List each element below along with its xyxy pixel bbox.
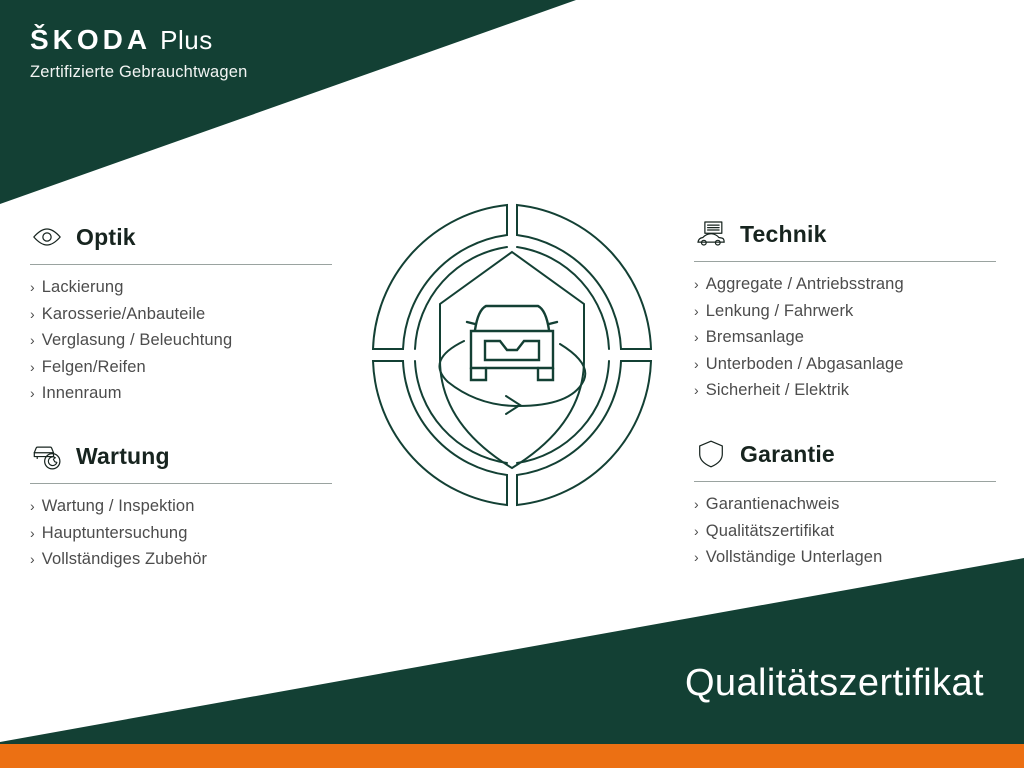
chevron-right-icon: › xyxy=(30,306,35,322)
list-item: ›Lackierung xyxy=(30,279,335,296)
chevron-right-icon: › xyxy=(30,359,35,375)
list-item: ›Garantienachweis xyxy=(694,496,999,513)
chevron-right-icon: › xyxy=(694,382,699,398)
list-item-label: Lackierung xyxy=(42,279,124,296)
section-wartung-divider xyxy=(30,483,332,484)
section-garantie-title: Garantie xyxy=(740,443,835,466)
list-item-label: Felgen/Reifen xyxy=(42,359,146,376)
list-item: ›Verglasung / Beleuchtung xyxy=(30,332,335,349)
list-item-label: Sicherheit / Elektrik xyxy=(706,382,849,399)
section-technik: Technik ›Aggregate / Antriebsstrang ›Len… xyxy=(694,215,999,409)
bottom-orange-bar xyxy=(0,744,1024,768)
list-item-label: Lenkung / Fahrwerk xyxy=(706,303,854,320)
section-technik-title: Technik xyxy=(740,223,827,246)
section-optik-title: Optik xyxy=(76,226,136,249)
list-item: ›Unterboden / Abgasanlage xyxy=(694,356,999,373)
section-garantie-list: ›Garantienachweis ›Qualitätszertifikat ›… xyxy=(694,496,999,566)
section-wartung-header: Wartung xyxy=(30,437,335,475)
section-optik-header: Optik xyxy=(30,218,335,256)
chevron-right-icon: › xyxy=(30,385,35,401)
car-document-icon xyxy=(694,217,728,251)
section-wartung-title: Wartung xyxy=(76,445,170,468)
list-item-label: Verglasung / Beleuchtung xyxy=(42,332,232,349)
chevron-right-icon: › xyxy=(694,496,699,512)
chevron-right-icon: › xyxy=(694,523,699,539)
car-wrench-icon xyxy=(30,439,64,473)
chevron-right-icon: › xyxy=(30,525,35,541)
footer-title: Qualitätszertifikat xyxy=(685,664,984,702)
section-technik-list: ›Aggregate / Antriebsstrang ›Lenkung / F… xyxy=(694,276,999,399)
list-item: ›Felgen/Reifen xyxy=(30,359,335,376)
section-garantie-header: Garantie xyxy=(694,435,999,473)
chevron-right-icon: › xyxy=(694,329,699,345)
emblem-car-front xyxy=(467,306,557,380)
list-item-label: Wartung / Inspektion xyxy=(42,498,195,515)
list-item: ›Wartung / Inspektion xyxy=(30,498,335,515)
list-item-label: Vollständiges Zubehör xyxy=(42,551,207,568)
brand-block: ŠKODA Plus Zertifizierte Gebrauchtwagen xyxy=(30,26,247,82)
chevron-right-icon: › xyxy=(694,276,699,292)
section-technik-divider xyxy=(694,261,996,262)
section-wartung: Wartung ›Wartung / Inspektion ›Hauptunte… xyxy=(30,437,335,578)
list-item: ›Vollständige Unterlagen xyxy=(694,549,999,566)
list-item-label: Garantienachweis xyxy=(706,496,840,513)
brand-logo: ŠKODA Plus xyxy=(30,26,247,54)
brand-suffix: Plus xyxy=(160,27,213,53)
chevron-right-icon: › xyxy=(694,303,699,319)
chevron-right-icon: › xyxy=(30,498,35,514)
shield-icon xyxy=(694,437,728,471)
section-optik: Optik ›Lackierung ›Karosserie/Anbauteile… xyxy=(30,218,335,412)
list-item: ›Hauptuntersuchung xyxy=(30,525,335,542)
list-item-label: Innenraum xyxy=(42,385,122,402)
eye-icon xyxy=(30,220,64,254)
list-item: ›Lenkung / Fahrwerk xyxy=(694,303,999,320)
section-technik-header: Technik xyxy=(694,215,999,253)
list-item-label: Qualitätszertifikat xyxy=(706,523,834,540)
shielded-car-ring-icon xyxy=(368,200,656,510)
list-item: ›Vollständiges Zubehör xyxy=(30,551,335,568)
chevron-right-icon: › xyxy=(694,549,699,565)
section-optik-divider xyxy=(30,264,332,265)
list-item-label: Unterboden / Abgasanlage xyxy=(706,356,904,373)
list-item: ›Qualitätszertifikat xyxy=(694,523,999,540)
emblem-orbit xyxy=(439,341,585,414)
section-wartung-list: ›Wartung / Inspektion ›Hauptuntersuchung… xyxy=(30,498,335,568)
section-garantie-divider xyxy=(694,481,996,482)
list-item: ›Bremsanlage xyxy=(694,329,999,346)
list-item: ›Innenraum xyxy=(30,385,335,402)
list-item: ›Karosserie/Anbauteile xyxy=(30,306,335,323)
emblem-outer-ring xyxy=(373,205,651,505)
chevron-right-icon: › xyxy=(30,279,35,295)
list-item: ›Aggregate / Antriebsstrang xyxy=(694,276,999,293)
list-item-label: Bremsanlage xyxy=(706,329,804,346)
section-garantie: Garantie ›Garantienachweis ›Qualitätszer… xyxy=(694,435,999,576)
certificate-page: ŠKODA Plus Zertifizierte Gebrauchtwagen … xyxy=(0,0,1024,768)
list-item: ›Sicherheit / Elektrik xyxy=(694,382,999,399)
section-optik-list: ›Lackierung ›Karosserie/Anbauteile ›Verg… xyxy=(30,279,335,402)
list-item-label: Aggregate / Antriebsstrang xyxy=(706,276,904,293)
brand-name: ŠKODA xyxy=(30,26,151,54)
chevron-right-icon: › xyxy=(694,356,699,372)
list-item-label: Vollständige Unterlagen xyxy=(706,549,883,566)
list-item-label: Hauptuntersuchung xyxy=(42,525,188,542)
brand-subtitle: Zertifizierte Gebrauchtwagen xyxy=(30,63,247,82)
chevron-right-icon: › xyxy=(30,551,35,567)
list-item-label: Karosserie/Anbauteile xyxy=(42,306,206,323)
chevron-right-icon: › xyxy=(30,332,35,348)
